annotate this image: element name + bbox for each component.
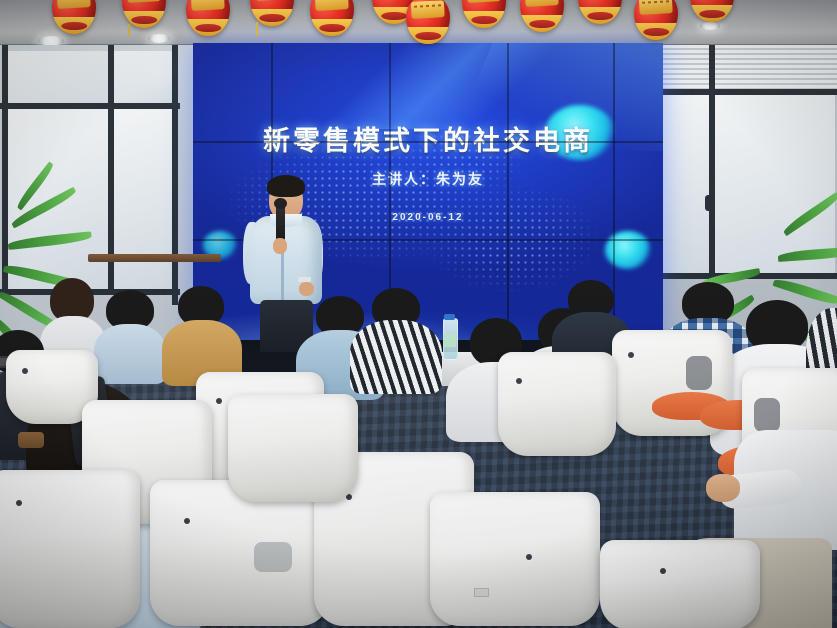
lantern-ring bbox=[131, 16, 157, 24]
presenter-collar bbox=[270, 214, 302, 227]
red-lantern bbox=[578, 0, 622, 24]
lantern-label bbox=[191, 0, 225, 11]
chair[interactable] bbox=[600, 540, 760, 628]
chair-fastener bbox=[516, 378, 522, 384]
presenter-hand bbox=[273, 238, 287, 254]
chair-backrest bbox=[430, 492, 600, 626]
lantern-ring bbox=[699, 10, 725, 18]
lantern-ring bbox=[415, 32, 441, 40]
chair-fastener bbox=[16, 500, 22, 506]
microphone-head bbox=[274, 198, 287, 209]
window-mullion bbox=[657, 89, 837, 95]
attendee-striped-dark bbox=[352, 288, 438, 392]
conference-room-photo: 新零售模式下的社交电商 主讲人：朱为友 2020-06-12 bbox=[0, 0, 837, 628]
lantern-label bbox=[127, 0, 161, 3]
panel-seam bbox=[193, 141, 663, 143]
chair-fastener bbox=[526, 554, 532, 560]
window-mullion bbox=[709, 45, 715, 295]
presenter-hand bbox=[299, 282, 314, 296]
chair-fastener bbox=[628, 352, 634, 358]
chair-fastener bbox=[22, 368, 28, 374]
attendee-wristwatch bbox=[18, 432, 44, 448]
red-lantern bbox=[462, 0, 506, 28]
chair-backrest bbox=[498, 352, 616, 456]
window-pane bbox=[8, 51, 108, 103]
red-lantern bbox=[310, 0, 354, 36]
red-lantern bbox=[186, 0, 230, 36]
chair-label-tag bbox=[474, 588, 489, 597]
lantern-label bbox=[411, 0, 445, 19]
lantern-label bbox=[57, 0, 91, 9]
window-pane bbox=[114, 51, 172, 103]
attendee-torso bbox=[350, 320, 442, 394]
plant-frond bbox=[778, 247, 837, 262]
lantern-ring bbox=[643, 28, 669, 36]
chair[interactable] bbox=[498, 352, 616, 460]
window-blinds bbox=[663, 45, 837, 89]
window-mullion bbox=[0, 103, 180, 109]
chair-fastener bbox=[660, 568, 666, 574]
chair-handle-cutout bbox=[686, 356, 712, 390]
panel-seam bbox=[507, 43, 509, 348]
ceiling-downlight bbox=[700, 22, 720, 30]
red-lantern bbox=[406, 0, 450, 44]
attendee-torso bbox=[94, 324, 166, 384]
chair-handle-cutout bbox=[754, 398, 780, 432]
chair-handle-cutout bbox=[254, 542, 292, 572]
lantern-label bbox=[255, 0, 289, 1]
lantern-ring bbox=[61, 22, 87, 30]
window-handle bbox=[705, 195, 713, 211]
lantern-ring bbox=[471, 16, 497, 24]
chair[interactable] bbox=[0, 470, 140, 628]
lantern-label bbox=[525, 0, 559, 7]
attendee-hand bbox=[706, 474, 740, 502]
lantern-label bbox=[315, 0, 349, 11]
lantern-label bbox=[467, 0, 501, 3]
red-lantern bbox=[52, 0, 96, 34]
chair-backrest bbox=[0, 470, 140, 628]
lantern-ring bbox=[529, 20, 555, 28]
lantern-label bbox=[639, 0, 673, 15]
lantern-ring bbox=[259, 14, 285, 22]
lantern-ring bbox=[195, 24, 221, 32]
chair[interactable] bbox=[430, 492, 600, 628]
attendee-row2-tan bbox=[166, 286, 236, 382]
attendee-back-dark bbox=[98, 290, 162, 380]
chair-fastener bbox=[184, 518, 190, 524]
lantern-ring bbox=[381, 12, 407, 20]
chair[interactable] bbox=[228, 394, 358, 504]
plant-frond bbox=[7, 231, 92, 250]
chair-backrest bbox=[228, 394, 358, 502]
lantern-ring bbox=[319, 24, 345, 32]
ceiling-downlight bbox=[148, 34, 170, 43]
presenter-watch bbox=[298, 277, 311, 282]
red-lantern bbox=[634, 0, 678, 40]
red-lantern bbox=[520, 0, 564, 32]
lantern-tassel bbox=[128, 24, 130, 36]
lantern-ring bbox=[587, 12, 613, 20]
lantern-tassel bbox=[256, 22, 258, 36]
chair-backrest bbox=[600, 540, 760, 628]
presenter-hair bbox=[267, 175, 305, 197]
red-lantern bbox=[690, 0, 734, 22]
screen-title: 新零售模式下的社交电商 bbox=[193, 119, 663, 158]
window-pane bbox=[663, 93, 709, 273]
